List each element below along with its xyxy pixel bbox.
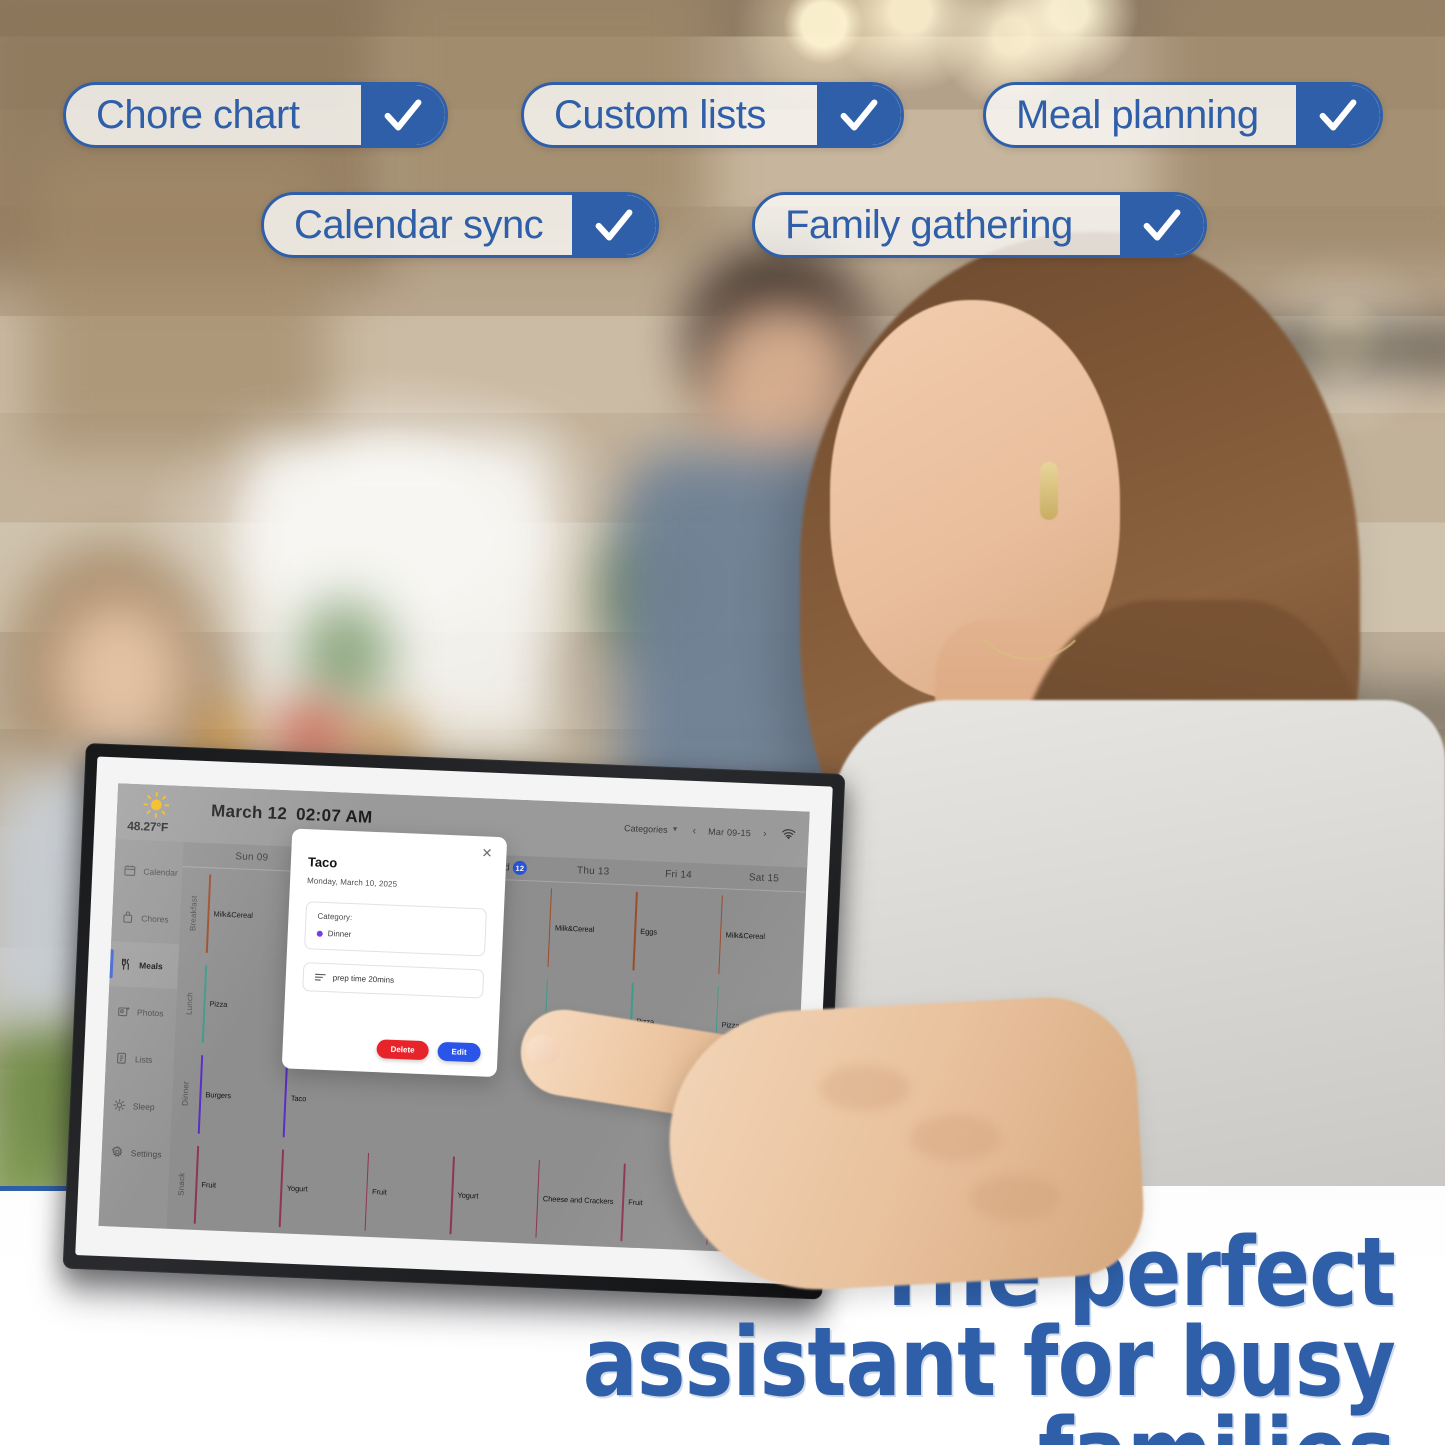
check-icon	[361, 85, 445, 145]
feature-pill-label: Meal planning	[986, 85, 1281, 145]
categories-label: Categories	[624, 823, 668, 835]
modal-date: Monday, March 10, 2025	[307, 876, 488, 892]
sidebar-item-settings[interactable]: Settings	[101, 1129, 171, 1177]
category-label: Category:	[317, 912, 474, 927]
wifi-icon	[780, 828, 797, 842]
day-name: Fri	[665, 868, 678, 879]
meal-cell[interactable]	[538, 1063, 627, 1157]
marketing-headline: The perfect assistant for busy families	[294, 1228, 1395, 1445]
feature-pill-custom-lists[interactable]: Custom lists	[521, 82, 904, 148]
gear-icon	[111, 1145, 125, 1159]
sidebar-item-label: Sleep	[133, 1101, 155, 1112]
day-name: Thu	[577, 865, 595, 877]
check-icon	[1296, 85, 1380, 145]
sidebar-item-label: Photos	[137, 1007, 164, 1018]
today-badge: 12	[513, 861, 528, 876]
meal-label: Yogurt	[713, 1201, 734, 1211]
sidebar-item-label: Meals	[139, 960, 163, 971]
meal-cell[interactable]: Salad	[542, 973, 631, 1067]
feature-pill-label: Chore chart	[66, 85, 321, 145]
date-value: March 12	[211, 801, 288, 823]
edit-button[interactable]: Edit	[437, 1042, 481, 1063]
day-number: 13	[598, 866, 610, 877]
meal-cell[interactable]: Pizza	[713, 980, 802, 1074]
photos-icon	[117, 1005, 131, 1019]
calendar-icon	[123, 864, 137, 878]
meal-label: Burgers	[205, 1090, 231, 1100]
delete-button[interactable]: Delete	[376, 1039, 429, 1060]
day-header-thu[interactable]: Thu 13	[550, 857, 636, 884]
meal-cell[interactable]: Fruit	[192, 1139, 281, 1233]
meal-detail-modal: ✕ Taco Monday, March 10, 2025 Category: …	[282, 829, 507, 1078]
meal-cell[interactable]: Pizza	[201, 959, 290, 1053]
meal-label: Fruit	[372, 1187, 387, 1197]
feature-pill-meal-planning[interactable]: Meal planning	[983, 82, 1383, 148]
note-field[interactable]: prep time 20mins	[302, 962, 484, 998]
meal-label: Milk&Cereal	[725, 930, 765, 941]
weather-widget[interactable]: 48.27°F	[126, 789, 212, 793]
meal-label: Yogurt	[457, 1191, 478, 1201]
sidebar-item-label: Calendar	[143, 866, 178, 877]
sidebar-item-calendar[interactable]: Calendar	[113, 847, 183, 895]
category-value: Dinner	[328, 929, 352, 939]
meal-label: Fruit	[628, 1198, 643, 1208]
day-name: Sun	[235, 851, 254, 863]
check-icon	[817, 85, 901, 145]
prev-week-button[interactable]: ‹	[692, 824, 696, 836]
week-range-label: Mar 09-15	[708, 826, 751, 838]
day-number: 15	[767, 873, 779, 884]
day-header-sat[interactable]: Sat 15	[721, 864, 807, 891]
sidebar-item-meals[interactable]: Meals	[109, 941, 179, 989]
feature-pill-label: Family gathering	[755, 195, 1095, 255]
row-label-lunch: Lunch	[175, 957, 205, 1048]
meal-cell[interactable]	[709, 1070, 798, 1164]
check-icon	[1120, 195, 1204, 255]
check-icon	[572, 195, 656, 255]
tablet-inner-bezel: 48.27°F March 1202:07 AM Categories ▼ ‹	[75, 756, 833, 1285]
feature-pill-chore-chart[interactable]: Chore chart	[63, 82, 448, 148]
temperature-value: 48.27°F	[127, 819, 168, 835]
meal-cell[interactable]: Milk&Cereal	[546, 882, 635, 976]
week-navigator: ‹ Mar 09-15 ›	[692, 824, 767, 839]
status-bar-controls: Categories ▼ ‹ Mar 09-15 ›	[624, 821, 797, 841]
sidebar-item-chores[interactable]: Chores	[111, 894, 181, 942]
meal-cell[interactable]: Yogurt	[278, 1143, 367, 1237]
meal-label: Salad	[551, 1013, 570, 1023]
categories-dropdown[interactable]: Categories ▼	[624, 823, 679, 835]
sidebar-item-sleep[interactable]: Sleep	[103, 1082, 173, 1130]
earring	[1040, 462, 1058, 520]
close-icon[interactable]: ✕	[480, 846, 494, 860]
meal-cell[interactable]: Eggs	[631, 886, 720, 980]
meal-cell[interactable]: Milk&Cereal	[717, 889, 806, 983]
sidebar-item-label: Lists	[135, 1054, 153, 1065]
row-label-snack: Snack	[166, 1138, 196, 1229]
sleep-icon	[113, 1098, 127, 1112]
tablet-screen[interactable]: 48.27°F March 1202:07 AM Categories ▼ ‹	[99, 783, 810, 1254]
meals-icon	[119, 958, 133, 972]
lists-icon	[115, 1051, 129, 1065]
sidebar-item-label: Settings	[131, 1148, 162, 1159]
feature-pill-family-gathering[interactable]: Family gathering	[752, 192, 1207, 258]
sun-icon	[143, 791, 170, 818]
meal-cell[interactable]: Fruit	[363, 1146, 452, 1240]
row-label-breakfast: Breakfast	[179, 867, 209, 958]
meal-label: Milk&Cereal	[213, 909, 253, 920]
meal-label: Fruit	[201, 1180, 216, 1190]
sidebar-item-label: Chores	[141, 913, 169, 924]
date-time-display: March 1202:07 AM	[211, 801, 373, 828]
row-label-dinner: Dinner	[170, 1048, 200, 1139]
day-header-fri[interactable]: Fri 14	[635, 861, 721, 888]
modal-title: Taco	[308, 854, 490, 876]
feature-pill-calendar-sync[interactable]: Calendar sync	[261, 192, 659, 258]
meal-label: Cheese and Crackers	[543, 1194, 614, 1206]
meal-label: Pizza	[721, 1020, 739, 1030]
next-week-button[interactable]: ›	[763, 827, 767, 839]
meal-label: Pizza	[636, 1017, 654, 1027]
meal-label: Milk&Cereal	[555, 923, 595, 934]
category-value-row[interactable]: Dinner	[317, 929, 474, 944]
category-box: Category: Dinner	[304, 901, 487, 956]
feature-pill-label: Calendar sync	[264, 195, 565, 255]
child-figure	[55, 600, 185, 750]
meal-label: Taco	[291, 1093, 307, 1103]
meal-cell[interactable]: Milk&Cereal	[205, 868, 294, 962]
feature-pill-label: Custom lists	[524, 85, 788, 145]
day-name: Sat	[749, 872, 765, 884]
meal-cell[interactable]	[623, 1066, 712, 1160]
day-number: 09	[256, 852, 268, 863]
marketing-image: 48.27°F March 1202:07 AM Categories ▼ ‹	[0, 0, 1445, 1445]
meal-cell[interactable]: Burgers	[196, 1049, 285, 1143]
meal-label: Yogurt	[287, 1184, 308, 1194]
chores-icon	[121, 911, 135, 925]
day-header-sun[interactable]: Sun 09	[209, 843, 295, 870]
notes-icon	[315, 973, 326, 982]
headline-line-2: assistant for busy families	[294, 1318, 1395, 1445]
meal-cell[interactable]: Pizza	[627, 976, 716, 1070]
sidebar-item-lists[interactable]: Lists	[105, 1035, 175, 1083]
note-text: prep time 20mins	[333, 973, 395, 985]
day-number: 14	[680, 869, 692, 880]
chevron-down-icon: ▼	[671, 826, 678, 833]
sidebar-item-photos[interactable]: Photos	[107, 988, 177, 1036]
category-color-dot	[317, 930, 323, 936]
tablet-bezel: 48.27°F March 1202:07 AM Categories ▼ ‹	[63, 743, 846, 1300]
modal-actions: Delete Edit	[299, 1036, 481, 1062]
time-value: 02:07 AM	[296, 805, 373, 827]
meal-label: Pizza	[209, 999, 227, 1009]
meal-label: Eggs	[640, 926, 657, 936]
woman-figure	[830, 700, 1445, 1215]
